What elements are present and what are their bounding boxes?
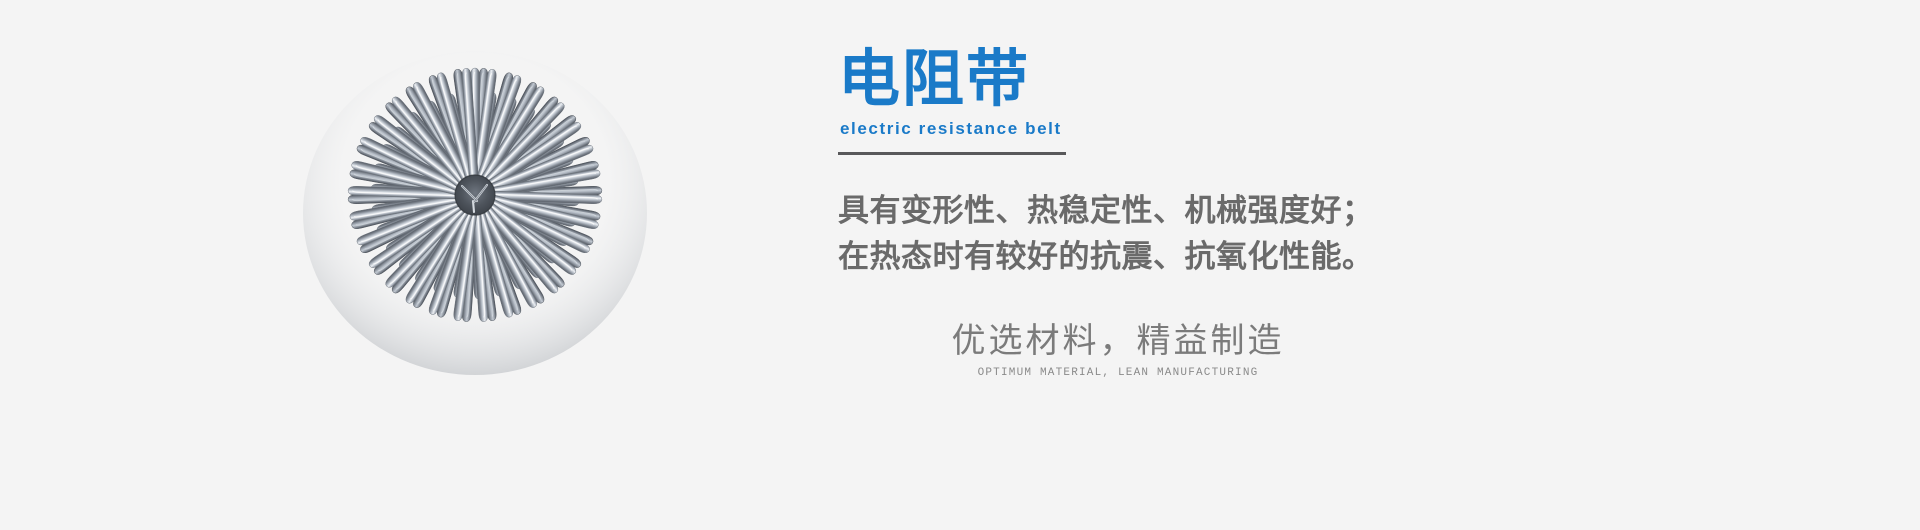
product-banner: 电阻带 electric resistance belt 具有变形性、热稳定性、…: [0, 0, 1920, 530]
title-divider: [838, 152, 1066, 155]
description-line-2: 在热态时有较好的抗震、抗氧化性能。: [838, 234, 1478, 280]
slogan-en: OPTIMUM MATERIAL, LEAN MANUFACTURING: [838, 366, 1398, 380]
page-subtitle: electric resistance belt: [840, 118, 1062, 140]
page-title: 电阻带: [838, 44, 1030, 116]
slogan-zh: 优选材料，精益制造: [838, 318, 1398, 364]
resistance-belt-coil-illustration: [300, 45, 650, 395]
description-line-1: 具有变形性、热稳定性、机械强度好；: [838, 188, 1478, 234]
slogan-block: 优选材料，精益制造 OPTIMUM MATERIAL, LEAN MANUFAC…: [838, 318, 1398, 380]
product-image: [300, 45, 650, 395]
product-description: 具有变形性、热稳定性、机械强度好； 在热态时有较好的抗震、抗氧化性能。: [838, 188, 1478, 280]
banner-content: 电阻带 electric resistance belt 具有变形性、热稳定性、…: [838, 0, 1538, 530]
